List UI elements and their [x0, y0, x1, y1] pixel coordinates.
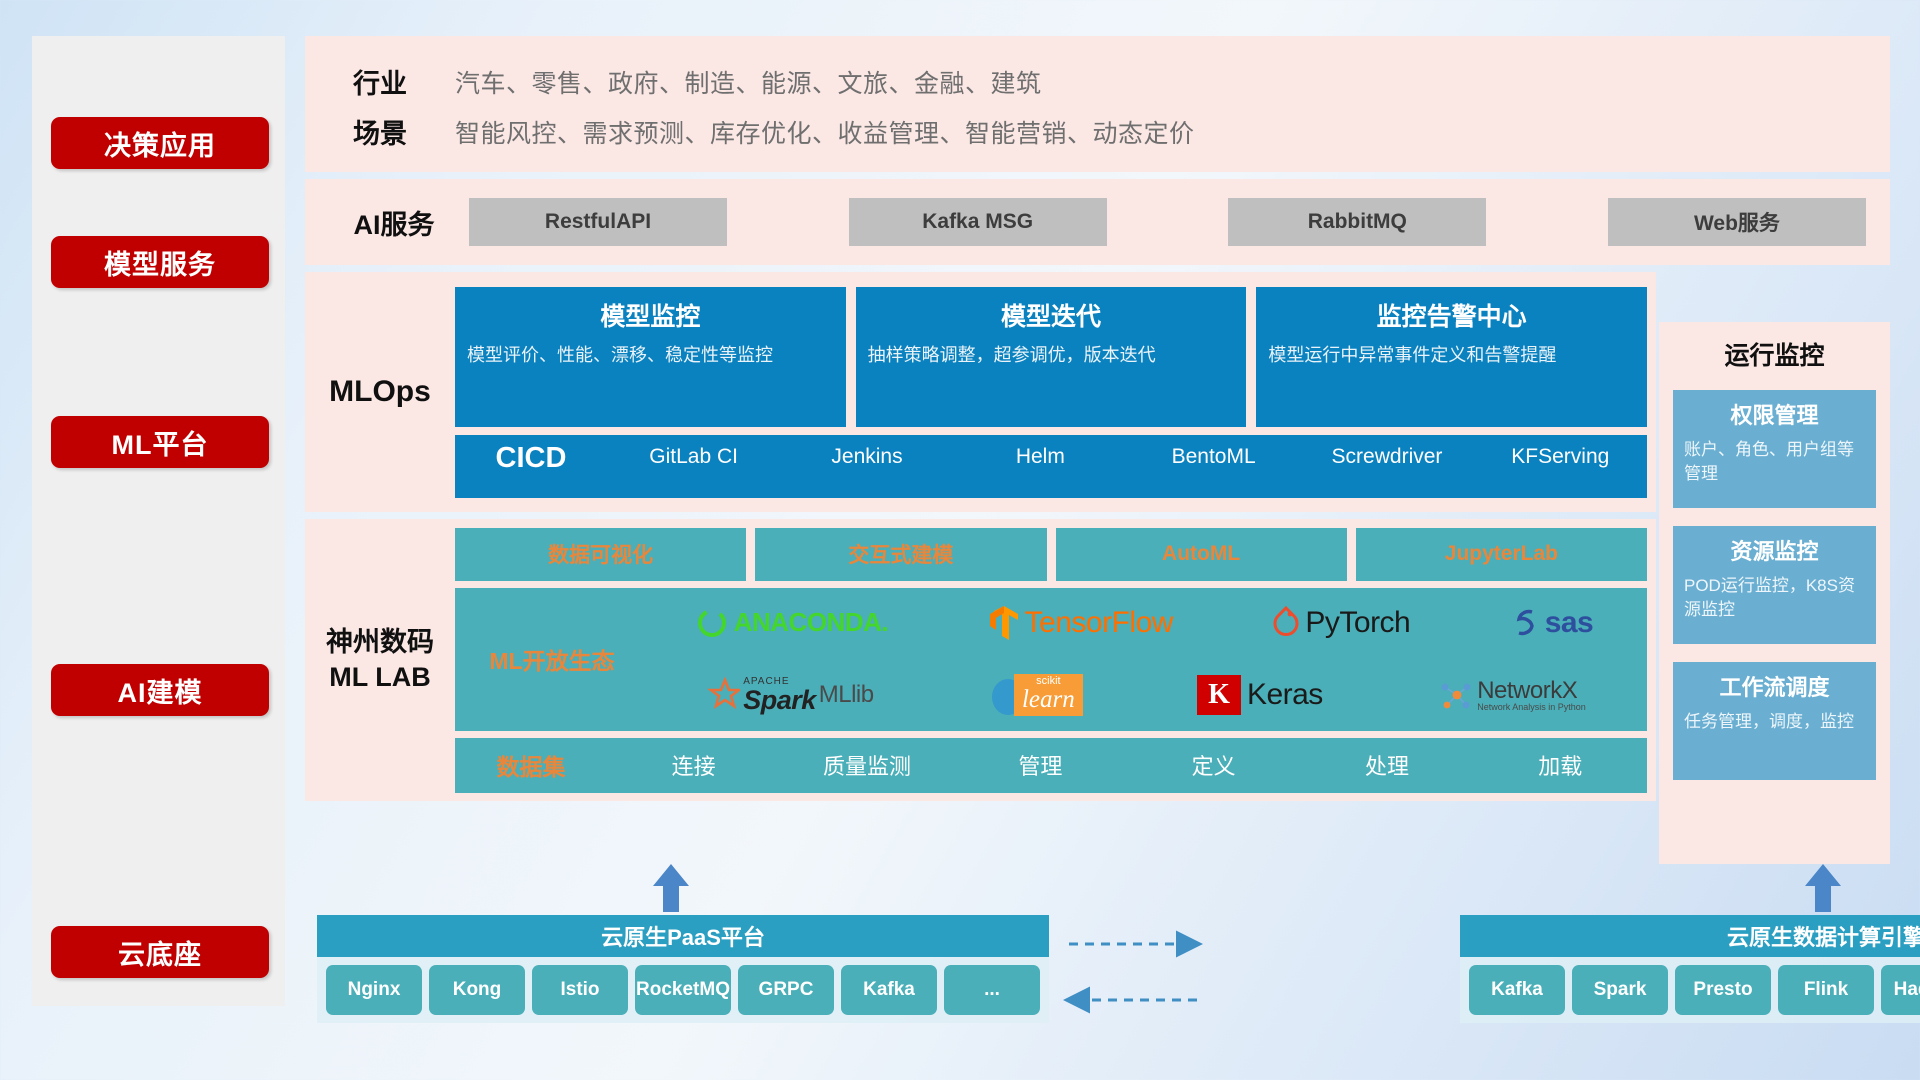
- tensorflow-mark-icon: [988, 604, 1020, 642]
- paas-chip-kong[interactable]: Kong: [429, 965, 525, 1015]
- paas-chip-more[interactable]: ...: [944, 965, 1040, 1015]
- dataset-item-management[interactable]: 管理: [954, 749, 1127, 781]
- anaconda-mark-icon: [695, 606, 729, 640]
- ai-service-box-group: RestfulAPI Kafka MSG RabbitMQ Web服务: [469, 198, 1876, 246]
- tool-data-visualization[interactable]: 数据可视化: [455, 528, 746, 581]
- data-engine-chip-presto[interactable]: Presto: [1675, 965, 1771, 1015]
- scikit-learn-wordmark-group: scikit learn: [1014, 674, 1083, 716]
- sidebar-item-decision-app[interactable]: 决策应用: [51, 117, 269, 169]
- mlops-card-desc: 模型评价、性能、漂移、稳定性等监控: [467, 342, 834, 368]
- sidebar-item-ai-modeling[interactable]: AI建模: [51, 664, 269, 716]
- mlops-card-group: 模型监控 模型评价、性能、漂移、稳定性等监控 模型迭代 抽样策略调整，超参调优，…: [455, 287, 1647, 427]
- networkx-logo: NetworkX Network Analysis in Python: [1437, 677, 1586, 713]
- networkx-wordmark-group: NetworkX Network Analysis in Python: [1477, 678, 1586, 713]
- cicd-item-kfserving[interactable]: KFServing: [1474, 443, 1647, 471]
- monitor-card-desc: POD运行监控，K8S资源监控: [1684, 574, 1865, 622]
- dataset-item-processing[interactable]: 处理: [1300, 749, 1473, 781]
- cloud-base-section: 云原生PaaS平台 Nginx Kong Istio RocketMQ GRPC…: [305, 890, 1890, 1040]
- ecosystem-logo-line-1: ANACONDA. TensorFlow: [645, 588, 1643, 659]
- data-engine-stack-header: 云原生数据计算引擎: [1460, 915, 1920, 957]
- mlops-card-model-iteration[interactable]: 模型迭代 抽样策略调整，超参调优，版本迭代: [856, 287, 1247, 427]
- spark-wordmark: Spark: [743, 687, 816, 714]
- ml-open-ecosystem-row: ML开放生态 ANACONDA.: [455, 588, 1647, 731]
- data-engine-chip-kafka[interactable]: Kafka: [1469, 965, 1565, 1015]
- runtime-monitor-panel: 运行监控 权限管理 账户、角色、用户组等管理 资源监控 POD运行监控，K8S资…: [1659, 322, 1890, 864]
- sidebar-item-label: 云底座: [118, 933, 202, 972]
- anaconda-wordmark: ANACONDA.: [734, 607, 888, 638]
- paas-stack-header: 云原生PaaS平台: [317, 915, 1049, 957]
- industry-label: 行业: [305, 62, 455, 101]
- architecture-main-column: 行业 汽车、零售、政府、制造、能源、文旅、金融、建筑 场景 智能风控、需求预测、…: [305, 36, 1890, 808]
- ai-service-box-restfulapi[interactable]: RestfulAPI: [469, 198, 727, 246]
- keras-mark-icon: K: [1197, 675, 1241, 715]
- tool-interactive-modeling[interactable]: 交互式建模: [755, 528, 1046, 581]
- monitor-card-desc: 账户、角色、用户组等管理: [1684, 438, 1865, 486]
- sas-mark-icon: [1510, 606, 1540, 640]
- industry-row: 行业 汽车、零售、政府、制造、能源、文旅、金融、建筑: [305, 58, 1890, 105]
- dataset-item-connect[interactable]: 连接: [607, 749, 780, 781]
- cicd-bar: CICD GitLab CI Jenkins Helm BentoML Scre…: [455, 435, 1647, 498]
- mlops-content: 模型监控 模型评价、性能、漂移、稳定性等监控 模型迭代 抽样策略调整，超参调优，…: [455, 287, 1656, 498]
- monitor-card-resource-monitoring[interactable]: 资源监控 POD运行监控，K8S资源监控: [1673, 526, 1876, 644]
- pytorch-wordmark: PyTorch: [1305, 606, 1410, 640]
- monitor-card-workflow-scheduling[interactable]: 工作流调度 任务管理，调度，监控: [1673, 662, 1876, 780]
- ecosystem-logo-line-2: APACHE Spark MLlib scikit learn: [645, 660, 1643, 731]
- ml-lab-label-line2: ML LAB: [305, 660, 455, 695]
- monitor-card-title: 工作流调度: [1684, 670, 1865, 702]
- paas-chip-istio[interactable]: Istio: [532, 965, 628, 1015]
- mlops-card-title: 模型监控: [467, 297, 834, 333]
- paas-chip-kafka[interactable]: Kafka: [841, 965, 937, 1015]
- sidebar-item-ml-platform[interactable]: ML平台: [51, 416, 269, 468]
- sidebar-item-label: ML平台: [112, 423, 209, 462]
- cicd-item-screwdriver[interactable]: Screwdriver: [1300, 443, 1473, 471]
- mlops-card-desc: 模型运行中异常事件定义和告警提醒: [1268, 342, 1635, 368]
- arrow-up-paas-icon: [653, 864, 689, 912]
- arrow-up-data-engine-icon: [1805, 864, 1841, 912]
- ml-lab-tool-group: 数据可视化 交互式建模 AutoML JupyterLab: [455, 528, 1647, 581]
- dataset-title: 数据集: [455, 748, 607, 782]
- data-engine-chip-hadoop[interactable]: Hadoop: [1881, 965, 1920, 1015]
- data-engine-chip-spark[interactable]: Spark: [1572, 965, 1668, 1015]
- keras-wordmark: Keras: [1247, 678, 1323, 712]
- sas-wordmark: sas: [1545, 606, 1594, 640]
- paas-chip-nginx[interactable]: Nginx: [326, 965, 422, 1015]
- mlops-band: MLOps 模型监控 模型评价、性能、漂移、稳定性等监控 模型迭代 抽样策略调整…: [305, 272, 1656, 512]
- industry-list: 汽车、零售、政府、制造、能源、文旅、金融、建筑: [455, 64, 1042, 100]
- sidebar-item-label: 决策应用: [104, 124, 216, 163]
- monitor-card-desc: 任务管理，调度，监控: [1684, 710, 1865, 734]
- pytorch-logo: PyTorch: [1272, 606, 1410, 640]
- dataset-bar: 数据集 连接 质量监测 管理 定义 处理 加载: [455, 738, 1647, 793]
- networkx-wordmark: NetworkX: [1477, 678, 1586, 703]
- scikit-learn-logo: scikit learn: [988, 673, 1083, 717]
- monitor-card-title: 资源监控: [1684, 534, 1865, 566]
- ai-service-label: AI服务: [319, 203, 469, 242]
- spark-mllib-logo: APACHE Spark MLlib: [702, 676, 873, 714]
- ai-service-band: AI服务 RestfulAPI Kafka MSG RabbitMQ Web服务: [305, 179, 1890, 265]
- spark-wordmark-group: APACHE Spark: [743, 677, 816, 714]
- keras-logo: K Keras: [1197, 675, 1323, 715]
- paas-chip-grpc[interactable]: GRPC: [738, 965, 834, 1015]
- paas-chip-group: Nginx Kong Istio RocketMQ GRPC Kafka ...: [317, 957, 1049, 1023]
- ml-lab-content: 数据可视化 交互式建模 AutoML JupyterLab ML开放生态 ANA…: [455, 528, 1656, 793]
- mllib-wordmark: MLlib: [819, 681, 874, 709]
- bidirectional-link-group: [1047, 928, 1467, 1018]
- data-engine-chip-flink[interactable]: Flink: [1778, 965, 1874, 1015]
- paas-chip-rocketmq[interactable]: RocketMQ: [635, 965, 731, 1015]
- left-stage-sidebar: 决策应用 模型服务 ML平台 AI建模 云底座: [32, 36, 285, 1006]
- dataset-item-quality-monitoring[interactable]: 质量监测: [780, 749, 953, 781]
- ai-service-box-kafka-msg[interactable]: Kafka MSG: [849, 198, 1107, 246]
- networkx-graph-icon: [1437, 677, 1473, 713]
- scenario-label: 场景: [305, 112, 455, 151]
- anaconda-logo: ANACONDA.: [695, 606, 888, 640]
- mlops-card-desc: 抽样策略调整，超参调优，版本迭代: [868, 342, 1235, 368]
- ml-lab-label: 神州数码 ML LAB: [305, 625, 455, 694]
- sas-logo: sas: [1510, 606, 1594, 640]
- upward-arrow-group: [305, 862, 1890, 922]
- dataset-item-loading[interactable]: 加载: [1474, 749, 1647, 781]
- ml-lab-band: 神州数码 ML LAB 数据可视化 交互式建模 AutoML JupyterLa…: [305, 519, 1656, 801]
- scenario-row: 场景 智能风控、需求预测、库存优化、收益管理、智能营销、动态定价: [305, 108, 1890, 155]
- pytorch-mark-icon: [1272, 606, 1300, 640]
- tensorflow-wordmark: TensorFlow: [1025, 606, 1173, 640]
- cicd-item-jenkins[interactable]: Jenkins: [780, 443, 953, 471]
- tool-automl[interactable]: AutoML: [1056, 528, 1347, 581]
- dataset-item-definition[interactable]: 定义: [1127, 749, 1300, 781]
- mlops-card-title: 监控告警中心: [1268, 297, 1635, 333]
- sidebar-item-label: AI建模: [118, 671, 203, 710]
- data-engine-chip-group: Kafka Spark Presto Flink Hadoop Storm ..…: [1460, 957, 1920, 1023]
- runtime-monitor-title: 运行监控: [1673, 336, 1876, 372]
- cicd-title: CICD: [455, 443, 607, 473]
- ml-open-ecosystem-label: ML开放生态: [459, 642, 645, 676]
- mlops-card-title: 模型迭代: [868, 297, 1235, 333]
- mlops-card-model-monitoring[interactable]: 模型监控 模型评价、性能、漂移、稳定性等监控: [455, 287, 846, 427]
- sidebar-item-label: 模型服务: [104, 243, 216, 282]
- tensorflow-logo: TensorFlow: [988, 604, 1173, 642]
- ai-service-box-web-service[interactable]: Web服务: [1608, 198, 1866, 246]
- cicd-item-helm[interactable]: Helm: [954, 443, 1127, 471]
- scenario-list: 智能风控、需求预测、库存优化、收益管理、智能营销、动态定价: [455, 114, 1195, 150]
- ml-lab-label-line1: 神州数码: [305, 625, 455, 660]
- decision-application-band: 行业 汽车、零售、政府、制造、能源、文旅、金融、建筑 场景 智能风控、需求预测、…: [305, 36, 1890, 172]
- monitor-card-title: 权限管理: [1684, 398, 1865, 430]
- mlops-label: MLOps: [305, 375, 455, 409]
- spark-star-icon: [702, 676, 740, 714]
- tool-jupyterlab[interactable]: JupyterLab: [1356, 528, 1647, 581]
- cloud-native-paas-stack: 云原生PaaS平台 Nginx Kong Istio RocketMQ GRPC…: [317, 915, 1049, 1023]
- learn-wordmark: learn: [1022, 687, 1075, 712]
- networkx-tagline: Network Analysis in Python: [1477, 703, 1586, 712]
- mlops-card-alert-center[interactable]: 监控告警中心 模型运行中异常事件定义和告警提醒: [1256, 287, 1647, 427]
- cloud-native-data-engine-stack: 云原生数据计算引擎 Kafka Spark Presto Flink Hadoo…: [1460, 915, 1920, 1023]
- monitor-card-permission-management[interactable]: 权限管理 账户、角色、用户组等管理: [1673, 390, 1876, 508]
- sidebar-item-cloud-base[interactable]: 云底座: [51, 926, 269, 978]
- ai-service-box-rabbitmq[interactable]: RabbitMQ: [1228, 198, 1486, 246]
- ecosystem-logo-grid: ANACONDA. TensorFlow: [645, 588, 1643, 731]
- cicd-item-gitlab-ci[interactable]: GitLab CI: [607, 443, 780, 471]
- sidebar-item-model-service[interactable]: 模型服务: [51, 236, 269, 288]
- cicd-item-bentoml[interactable]: BentoML: [1127, 443, 1300, 471]
